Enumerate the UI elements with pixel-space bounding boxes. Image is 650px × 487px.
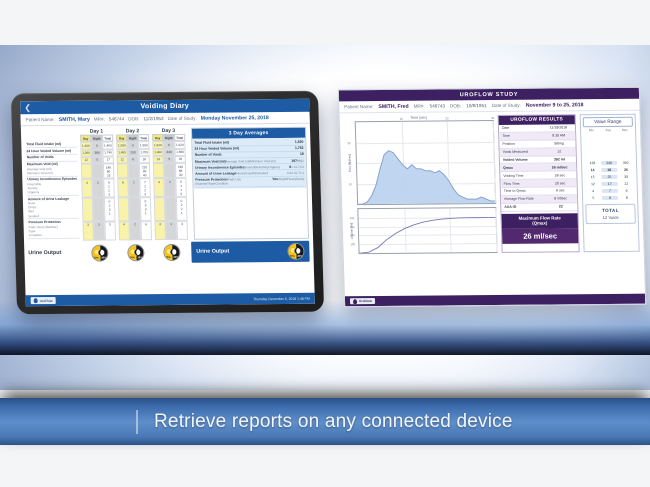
voiding-diary-body: Day 1Day 2Day 3 Total Fluid Intake (ml)2…: [21, 124, 313, 241]
average-subvalue: 3.0: [300, 165, 304, 169]
day-night-pie-icon: 80%20%: [91, 244, 108, 261]
average-label: Urinary Incontinence EpisodesInsensibleA…: [195, 165, 280, 170]
uroflow-charts: Time (sec) Flow (ml/sec) 102030102030 Vo…: [344, 115, 498, 254]
table-cell: 13: [153, 156, 164, 163]
value-range-cell: [600, 140, 617, 144]
night-percent: 20%: [101, 257, 106, 260]
average-value: 1,762: [295, 146, 304, 150]
y-axis-tick-label: 30: [347, 141, 350, 145]
table-cell: 1,840: [174, 148, 185, 155]
table-row: 1908830: [153, 163, 186, 179]
table-cell: 6: [141, 221, 153, 240]
footer-timestamp: Thursday December 6, 2018 1:48 PM: [253, 296, 310, 300]
table-cell: 7223: [139, 178, 151, 197]
table-row: 4 2 6123: [81, 179, 115, 199]
table-cell: [82, 198, 94, 221]
volume-chart: 100200300400: [357, 207, 497, 254]
day-percent: 84%: [129, 256, 134, 259]
value-range-cell: 7: [601, 189, 618, 193]
urine-output-summary-label: Urine Output: [196, 249, 229, 255]
tablet-screen: ❮ Voiding Diary Patient Name: SMITH, Mar…: [20, 99, 315, 306]
result-value: 20 sec: [547, 181, 574, 185]
logo-text: UroFlow: [359, 299, 372, 303]
value-range-cell: [600, 147, 617, 151]
table-cell: 0221: [176, 197, 188, 220]
averages-rows: Total Fluid Intake (ml)1,52024 Hour Void…: [192, 138, 306, 188]
value-range-cell: 392: [617, 161, 634, 165]
table-row: 0331: [118, 198, 152, 222]
value-range-cell: 25: [601, 175, 618, 179]
day-percent: 80%: [93, 257, 98, 260]
result-key: Time: [502, 134, 545, 138]
study-date-value: Monday November 25, 2018: [201, 115, 269, 122]
value-range-cell: 9: [618, 188, 635, 192]
average-value: 1,520: [295, 140, 304, 144]
y-axis-tick-label: 10: [348, 182, 351, 186]
day-night-pie-icon: 84%16%: [127, 244, 144, 261]
sub-header-night: Night: [127, 134, 138, 141]
result-value: 22: [547, 204, 574, 208]
tablet-device: ❮ Voiding Diary Patient Name: SMITH, Mar…: [11, 91, 324, 315]
value-range-title: Value Range: [583, 117, 633, 128]
result-value: 8 ml/sec: [547, 197, 574, 201]
value-range-column-header: Avg: [600, 128, 617, 132]
day-1-column: DayNightTotal1,40001,4001,3603801,740125…: [80, 134, 116, 240]
sub-header-total: Total: [102, 134, 113, 141]
max-flow-value: 26 ml/sec: [502, 228, 578, 244]
value-range-row: 588: [585, 194, 635, 201]
table-cell: 4: [81, 179, 93, 198]
table-cell: 0331: [140, 198, 152, 221]
table-cell: [164, 163, 175, 178]
caption-bar: Retrieve reports on any connected device: [0, 398, 650, 445]
dob-value: 10/8/1951: [466, 103, 487, 108]
patient-name-label: Patient Name:: [344, 104, 373, 109]
result-value: 26 sec: [546, 173, 573, 177]
value-range-cell: [617, 133, 634, 137]
row-sublabel: Urgency: [28, 190, 79, 195]
night-percent: 16%: [137, 256, 142, 259]
moon-icon: [99, 249, 105, 255]
value-range-cell: 22: [618, 182, 635, 186]
row-sublabel: Soaked: [28, 213, 79, 218]
day-night-pie-icon: 80%20%: [287, 243, 304, 260]
table-cell: 1: [164, 178, 176, 197]
flow-rate-chart: 102030102030: [355, 120, 497, 205]
table-row: 1808025: [81, 163, 114, 179]
average-label: Total Fluid Intake (ml): [194, 140, 229, 144]
row-sublabel: Minimum Void (ml): [27, 171, 78, 176]
night-percent: 24%: [173, 256, 178, 259]
value-range-rows: 128240392141826152530121722479588: [583, 132, 635, 201]
average-value: 61.31.73.0: [289, 165, 304, 169]
top-letterbox-band: [0, 0, 650, 45]
result-key: Position: [502, 142, 545, 146]
table-cell: [128, 163, 139, 178]
table-cell: 0: [163, 141, 174, 148]
sub-header-total: Total: [138, 134, 149, 141]
table-cell: 2209540: [139, 163, 150, 178]
table-cell: 1,360: [80, 149, 91, 156]
result-key: Voided Volume: [503, 157, 546, 161]
average-label: 24 Hour Voided Volume (ml): [194, 147, 239, 151]
average-sublabel: Soaked: [257, 171, 268, 175]
average-sublabel: Urgency: [268, 165, 280, 169]
night-percent: 20%: [297, 255, 302, 258]
value-range-cell: [583, 134, 600, 138]
table-cell: [81, 164, 92, 179]
flow-chart-wrap: Flow (ml/sec) 102030102030: [344, 120, 497, 205]
uroflow-main: Time (sec) Flow (ml/sec) 102030102030 Vo…: [339, 111, 643, 258]
app-logo: UroFlow: [350, 298, 375, 304]
table-row: 3 1 4: [155, 221, 189, 241]
urine-output-pies: 80%20%84%16%76%24%: [83, 244, 188, 262]
table-row: 3 2 5: [82, 221, 116, 241]
table-cell: 2: [92, 179, 104, 198]
value-range-cell: 15: [584, 175, 601, 179]
value-range-column-header: Min: [583, 128, 600, 132]
results-rows: Date11/18/2018Time9:30 AMPositionSitting…: [499, 124, 578, 211]
total-value: 12 Voids: [587, 215, 635, 220]
voiding-diary-topbar: ❮ Voiding Diary: [20, 99, 309, 115]
table-cell: 4: [119, 221, 131, 240]
uroflow-results-panel: UROFLOW RESULTS Date11/18/2018Time9:30 A…: [498, 114, 580, 253]
row-label-column: Total Fluid Intake (ml)24 Hour Voided Vo…: [25, 135, 80, 241]
dob-label: DOB:: [450, 103, 461, 108]
sub-header-day: Day: [80, 135, 91, 142]
x-axis-tick-label: 30: [491, 116, 494, 120]
y-axis-tick-label: 20: [348, 161, 351, 165]
table-cell: 5: [164, 156, 175, 163]
table-cell: [165, 197, 177, 220]
mrn-value: 546744: [109, 116, 124, 121]
moon-icon: [135, 249, 141, 255]
average-sublabel: Condition: [215, 182, 228, 186]
result-row: AUA-SI22: [501, 203, 577, 212]
flow-curve: [356, 121, 495, 204]
table-cell: 18: [175, 156, 186, 163]
table-cell: 1,400: [80, 142, 91, 149]
study-date-label: Date of Study:: [168, 116, 197, 121]
result-key: Qmax: [503, 165, 546, 169]
table-cell: 0231: [104, 198, 116, 221]
page-title: Voiding Diary: [20, 102, 309, 112]
value-range-cell: [617, 140, 634, 144]
table-row: 6 1 7223: [117, 178, 151, 198]
value-range-cell: 30: [618, 175, 635, 179]
table-cell: 12: [81, 156, 92, 163]
table-cell: 4: [153, 178, 165, 197]
average-value: 18: [300, 152, 304, 156]
value-range-cell: 8: [618, 195, 635, 199]
max-flow-box: Maximum Flow Rate (Qmax) 26 ml/sec: [501, 213, 578, 244]
table-cell: 1,705: [138, 149, 149, 156]
x-axis-tick-label: 10: [400, 117, 403, 121]
table-cell: [92, 164, 103, 179]
uroflow-footer: UroFlow: [345, 294, 645, 307]
average-subvalue: Light/Heavy: [280, 177, 296, 181]
three-day-averages-panel: 3 Day Averages Total Fluid Intake (ml)1,…: [191, 127, 309, 240]
sub-header-night: Night: [91, 135, 102, 142]
urine-output-summary: Urine Output 80%20%: [191, 241, 310, 263]
table-cell: [154, 197, 166, 220]
table-cell: 18: [139, 156, 150, 163]
volume-curve: [358, 208, 496, 253]
table-cell: 12: [117, 156, 128, 163]
table-cell: 2: [93, 221, 105, 240]
table-cell: [153, 163, 164, 178]
table-cell: 2: [130, 221, 142, 240]
result-value: 6 sec: [547, 189, 574, 193]
average-value: 0.02.32.71.0: [286, 171, 304, 175]
table-cell: 380: [91, 149, 102, 156]
value-range-cell: [584, 147, 601, 151]
value-range-cell: 14: [584, 168, 601, 172]
moon-icon: [171, 248, 177, 254]
sub-header-night: Night: [163, 134, 174, 141]
day-2-column: DayNightTotal1,55001,5501,4552501,705126…: [116, 134, 152, 240]
value-range-cell: [584, 154, 601, 158]
value-range-column-header: Max: [616, 128, 633, 132]
row-label: Amount of Urine LeakageNoneDropsWetSoake…: [27, 196, 80, 220]
value-range-panel: Value Range MinAvgMax 128240392141826152…: [580, 114, 640, 252]
value-range-cell: 128: [584, 161, 601, 165]
average-sublabel: Drops: [244, 171, 252, 175]
app-logo: UroFlow: [31, 297, 56, 303]
average-value: 1978832: [291, 158, 304, 162]
table-cell: 6123: [103, 179, 115, 198]
average-sublabel: Activity: [259, 165, 269, 169]
result-key: Average Flow Rate: [504, 197, 547, 201]
table-cell: 1808025: [103, 163, 114, 178]
table-cell: 1908830: [175, 163, 186, 178]
table-cell: 1,455: [116, 149, 127, 156]
table-cell: 1,400: [102, 142, 113, 149]
result-key: AUA-SI: [504, 205, 547, 209]
table-cell: 6: [117, 179, 129, 198]
logo-text: UroFlow: [40, 298, 53, 302]
total-box: TOTAL 12 Voids: [585, 204, 636, 225]
dob-value: 11/2/1953: [143, 116, 163, 121]
table-cell: 1: [128, 178, 140, 197]
table-cell: 3: [82, 221, 94, 240]
table-cell: [118, 198, 130, 221]
result-key: Voids Measured: [503, 150, 546, 154]
sub-header-total: Total: [174, 134, 185, 141]
day-percent: 80%: [290, 255, 295, 258]
table-cell: 5: [92, 156, 103, 163]
table-row: 0221: [154, 197, 188, 221]
table-cell: 1,740: [102, 149, 113, 156]
result-key: Voiding Time: [503, 173, 546, 177]
total-label: TOTAL: [586, 208, 634, 213]
patient-name-value: SMITH, Mary: [59, 116, 90, 122]
volume-chart-wrap: Volume (ml) 100200300400: [346, 207, 497, 254]
value-range-cell: [600, 134, 617, 138]
uroflow-title: UROFLOW STUDY: [460, 91, 519, 98]
voiding-diary-days-section: Day 1Day 2Day 3 Total Fluid Intake (ml)2…: [25, 128, 191, 241]
table-cell: [117, 163, 128, 178]
average-label: Amount of Urine LeakageNoneDropsWetSoake…: [195, 171, 268, 176]
table-cell: 0: [127, 142, 138, 149]
table-cell: 6: [128, 156, 139, 163]
y-axis-tick-label: 100: [350, 242, 355, 246]
pie-cell: 84%16%: [119, 244, 152, 261]
value-range-cell: 26: [618, 168, 635, 172]
day-percent: 76%: [165, 256, 170, 259]
pie-cell: 76%24%: [155, 244, 188, 261]
droplet-icon: [353, 299, 357, 304]
day-3-column: DayNightTotal1,62001,6201,4004401,840135…: [152, 134, 188, 240]
table-row: 0231: [82, 198, 116, 222]
table-cell: 440: [163, 149, 174, 156]
value-range-cell: [617, 154, 634, 158]
patient-name-value: SMITH, Fred: [378, 103, 408, 109]
value-range-cell: 8: [602, 195, 619, 199]
voiding-diary-footer: UroFlow Thursday December 6, 2018 1:48 P…: [26, 293, 315, 307]
value-range-cell: 18: [601, 168, 618, 172]
average-sublabel: Minimum Void (ml): [250, 159, 276, 163]
mrn-label: MR#:: [94, 117, 105, 122]
dob-label: DOB:: [128, 116, 139, 121]
sub-header-day: Day: [116, 134, 127, 141]
urine-output-summary-pie: 80%20%: [287, 243, 304, 260]
value-range-cell: 4: [585, 189, 602, 193]
result-value: 9:30 AM: [545, 134, 572, 138]
table-cell: 1,550: [138, 142, 149, 149]
table-cell: [93, 198, 105, 221]
table-cell: 5: [104, 221, 116, 240]
average-row: Pressure ProtectionPads Use (Number)Type…: [195, 176, 304, 187]
table-row: 4 1 5113: [153, 178, 187, 198]
day-night-pie-icon: 76%24%: [163, 244, 180, 261]
table-cell: 1,400: [152, 149, 163, 156]
value-range-cell: [583, 141, 600, 145]
result-key: Time to Qmax: [504, 189, 547, 193]
mrn-value: 546743: [430, 103, 445, 108]
pie-cell: 80%20%: [83, 244, 116, 261]
value-range-cell: 17: [601, 182, 618, 186]
value-range-cell: [600, 154, 617, 158]
x-axis-tick-label: 20: [445, 116, 448, 120]
caption-text: Retrieve reports on any connected device: [154, 411, 513, 433]
result-key: Date: [502, 126, 545, 130]
result-value: 392 ml: [546, 157, 573, 161]
caption-divider: [136, 410, 138, 434]
table-cell: 3: [155, 221, 167, 240]
patient-name-label: Patient Name:: [26, 117, 55, 122]
urine-output-label: Urine Output: [28, 250, 80, 256]
average-subvalue: Damp: [296, 177, 304, 181]
value-range-cell: [617, 147, 634, 151]
row-label: Maximum Void (ml)Average Void (ml)Minimu…: [26, 161, 78, 177]
table-cell: 5113: [175, 178, 187, 197]
value-range-cell: 5: [585, 196, 602, 200]
table-cell: 4: [177, 221, 189, 240]
result-value: 11/18/2018: [545, 126, 572, 130]
table-cell: 1: [166, 221, 178, 240]
study-date-label: Date of Study:: [492, 103, 521, 108]
study-date-value: November 9 to 25, 2018: [526, 102, 584, 109]
table-cell: 1,620: [152, 141, 163, 148]
table-cell: 1,620: [174, 141, 185, 148]
average-subvalue: 32: [300, 158, 304, 162]
row-label: Pressure ProtectionPads Used (Number)Typ…: [27, 219, 80, 239]
urine-output-row: Urine Output 80%20%84%16%76%24% Urine Ou…: [24, 239, 314, 265]
y-axis-tick-label: 300: [350, 225, 355, 229]
average-label: Maximum Void (ml)Average Void (ml)Minimu…: [195, 159, 276, 164]
table-cell: 0: [91, 142, 102, 149]
uroflow-report-sheet: UROFLOW STUDY Patient Name: SMITH, Fred …: [338, 87, 647, 308]
max-flow-caption: Maximum Flow Rate (Qmax): [501, 213, 577, 229]
average-subvalue: 1.0: [300, 171, 304, 175]
table-cell: 17: [103, 156, 114, 163]
value-range-cell: 12: [585, 182, 602, 186]
value-range-cell: 240: [601, 161, 618, 165]
table-cell: 250: [127, 149, 138, 156]
average-sublabel: Insensible: [245, 165, 259, 169]
table-row: 4 2 6: [119, 221, 153, 241]
result-value: Sitting: [545, 141, 572, 145]
table-cell: [129, 198, 141, 221]
row-label: Urinary Incontinence EpisodesInsensibleA…: [26, 176, 79, 196]
sub-header-day: Day: [152, 134, 163, 141]
average-label: Pressure ProtectionPads Use (Number)Type…: [195, 177, 272, 186]
result-value: 12: [546, 149, 573, 153]
bottom-letterbox-band: [0, 445, 650, 487]
y-axis-tick-label: 400: [350, 216, 355, 220]
result-value: 26 ml/sec: [546, 165, 573, 169]
result-key: Flow Time: [504, 181, 547, 185]
y-axis-tick-label: 200: [350, 234, 355, 238]
table-cell: 1,550: [116, 142, 127, 149]
voiding-diary-table: Total Fluid Intake (ml)24 Hour Voided Vo…: [25, 134, 191, 241]
droplet-icon: [34, 298, 38, 303]
row-sublabel: Condition: [29, 233, 80, 238]
average-sublabel: Average Void (ml): [226, 159, 251, 163]
average-value: Yes3Light/HeavyDamp: [272, 177, 304, 185]
table-row: 2209540: [117, 163, 150, 179]
value-range-columns: MinAvgMax: [583, 128, 633, 132]
average-label: Number of Voids: [195, 153, 222, 157]
mrn-label: MR#:: [414, 104, 425, 109]
